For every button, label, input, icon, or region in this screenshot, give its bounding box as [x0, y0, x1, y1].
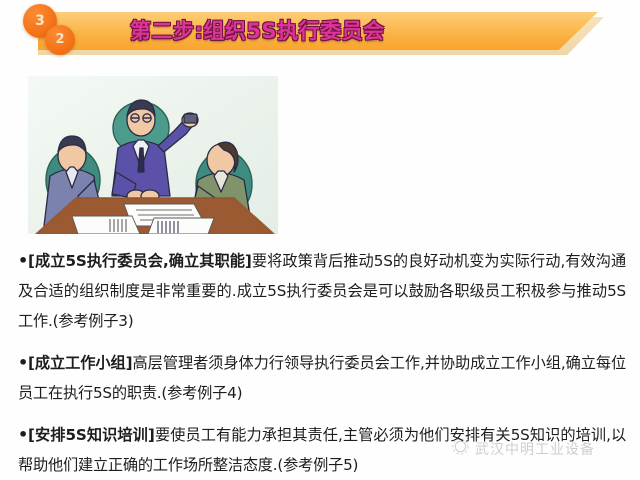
paragraph-lead-3: [安排5S知识培训]: [28, 426, 155, 444]
step-badge-2: 2: [45, 25, 75, 55]
bullet-marker-2: •: [18, 353, 28, 372]
page-title: 第二步:组织5S执行委员会: [130, 13, 385, 49]
meeting-illustration: [28, 76, 278, 234]
page-header: 第二步:组织5S执行委员会 3 2: [0, 0, 640, 72]
paragraph-lead-2: [成立工作小组]: [28, 354, 132, 372]
bullet-marker-1: •: [18, 251, 28, 270]
body-paragraph-1: •[成立5S执行委员会,确立其职能]要将政策背后推动5S的良好动机变为实际行动,…: [18, 246, 626, 336]
body-content: •[成立5S执行委员会,确立其职能]要将政策背后推动5S的良好动机变为实际行动,…: [18, 246, 626, 480]
body-paragraph-2: •[成立工作小组]高层管理者须身体力行领导执行委员会工作,并协助成立工作小组,确…: [18, 348, 626, 408]
meeting-illustration-graphic: [28, 76, 278, 234]
body-paragraph-3: •[安排5S知识培训]要使员工有能力承担其责任,主管必须为他们安排有关5S知识的…: [18, 420, 626, 480]
bullet-marker-3: •: [18, 425, 28, 444]
paragraph-lead-1: [成立5S执行委员会,确立其职能]: [28, 252, 252, 270]
